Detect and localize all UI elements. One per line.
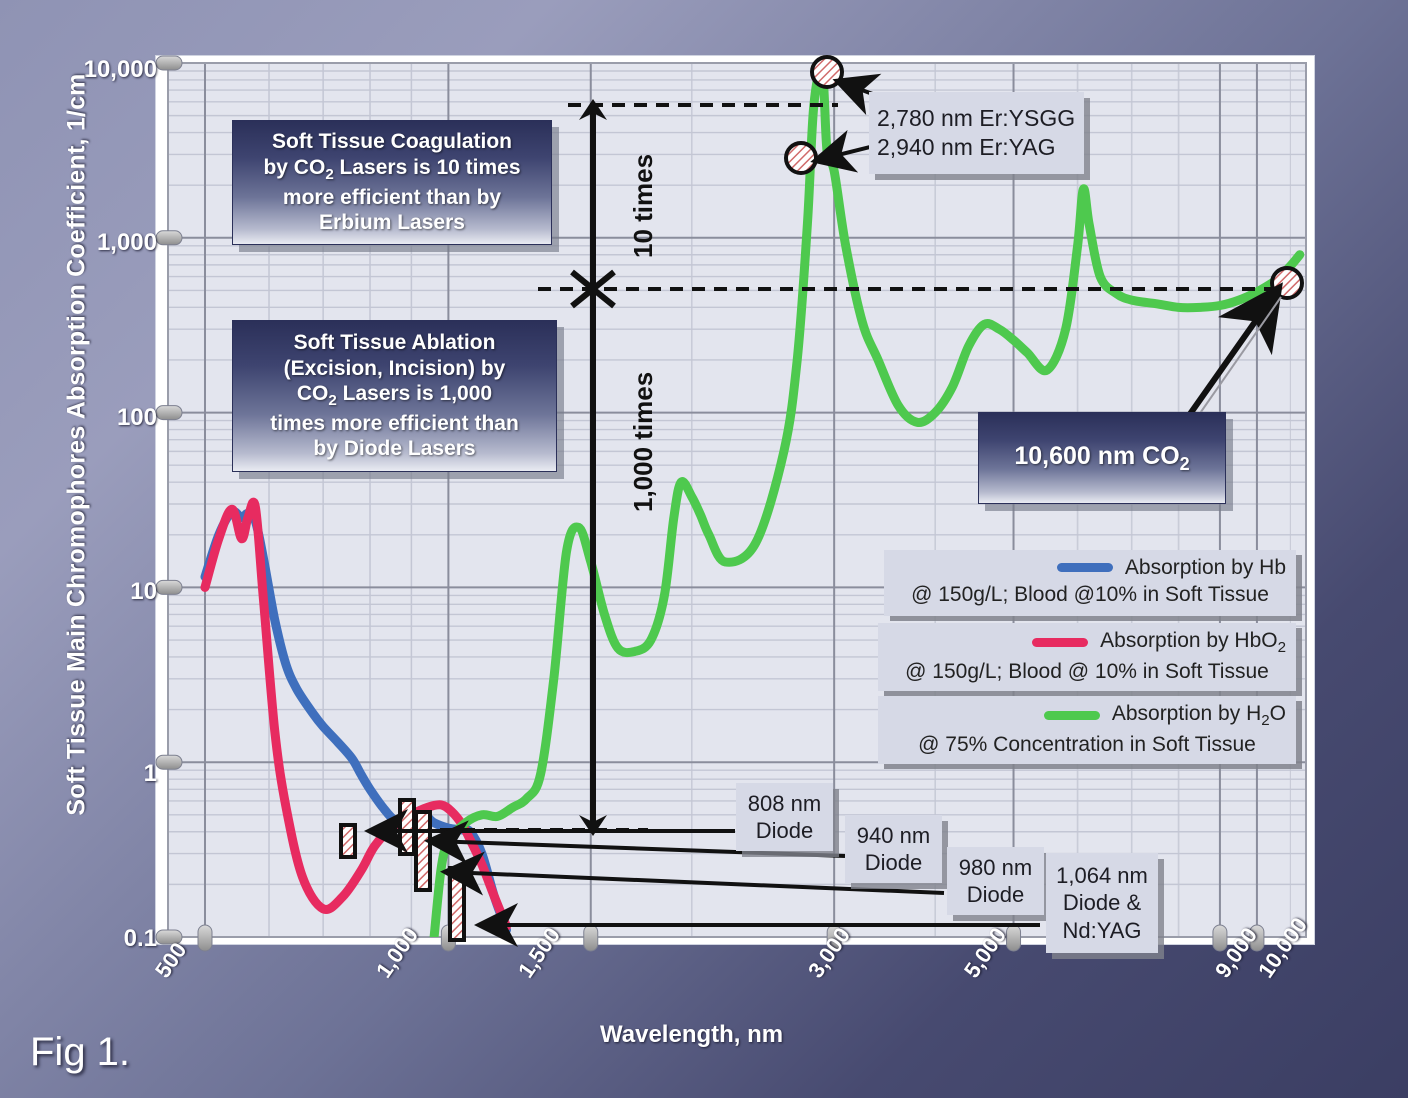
callout-980-line2: Diode: [967, 881, 1024, 909]
callout-coagulation-line1: Soft Tissue Coagulation: [272, 129, 512, 155]
callout-808-line2: Diode: [756, 817, 813, 845]
legend-hbo2-sublabel: @ 150g/L; Blood @ 10% in Soft Tissue: [888, 658, 1286, 685]
legend-swatch-hbo2-icon: [1032, 638, 1088, 647]
callout-ablation-line4: times more efficient than: [270, 411, 519, 437]
legend-swatch-hb-icon: [1057, 563, 1113, 572]
legend-hbo2-label: Absorption by HbO2: [1100, 627, 1286, 658]
callout-1064-line1: 1,064 nm: [1056, 862, 1148, 890]
legend-hb-label: Absorption by Hb: [1125, 554, 1286, 581]
legend-hb-row: Absorption by Hb: [894, 554, 1286, 581]
chart-svg: [0, 0, 1408, 1098]
legend-h2o-label: Absorption by H2O: [1112, 700, 1286, 731]
callout-ablation-line5: by Diode Lasers: [313, 436, 475, 462]
callout-808-diode: 808 nm Diode: [736, 783, 833, 851]
marker-2940-icon: [786, 143, 816, 173]
y-axis-title: Soft Tissue Main Chromophores Absorption…: [63, 45, 92, 845]
callout-coagulation: Soft Tissue Coagulation by CO2 Lasers is…: [232, 120, 552, 245]
callout-coagulation-line2: by CO2 Lasers is 10 times: [263, 155, 520, 185]
legend-h2o-row: Absorption by H2O: [888, 700, 1286, 731]
marker-1064-icon: [450, 868, 464, 940]
figure-caption: Fig 1.: [30, 1030, 130, 1075]
callout-980-line1: 980 nm: [959, 854, 1032, 882]
legend-h2o-sublabel: @ 75% Concentration in Soft Tissue: [888, 731, 1286, 758]
y-tick-pin: [156, 580, 182, 594]
callout-1064-line3: Nd:YAG: [1062, 917, 1141, 945]
marker-980-icon: [416, 812, 430, 890]
figure-root: 10,000 1,000 100 10 1 0.1 Soft Tissue Ma…: [0, 0, 1408, 1098]
callout-co2: 10,600 nm CO2: [978, 412, 1226, 504]
callout-erbium: 2,780 nm Er:YSGG 2,940 nm Er:YAG: [869, 92, 1084, 174]
x-tick-pin: [198, 925, 212, 951]
callout-1064-ndyag: 1,064 nm Diode & Nd:YAG: [1046, 853, 1158, 953]
y-tick-pin: [156, 755, 182, 769]
ratio-label-10-times: 10 times: [628, 154, 659, 258]
callout-ablation: Soft Tissue Ablation (Excision, Incision…: [232, 320, 557, 472]
legend-item-hbo2[interactable]: Absorption by HbO2 @ 150g/L; Blood @ 10%…: [878, 623, 1296, 691]
callout-coagulation-line3: more efficient than by: [283, 185, 501, 211]
leader-10600-shade: [1196, 297, 1281, 419]
x-axis-title: Wavelength, nm: [600, 1021, 783, 1049]
legend-item-h2o[interactable]: Absorption by H2O @ 75% Concentration in…: [878, 696, 1296, 764]
callout-808-line1: 808 nm: [748, 790, 821, 818]
callout-980-diode: 980 nm Diode: [947, 847, 1044, 915]
marker-808-icon: [341, 825, 355, 857]
legend-item-hb[interactable]: Absorption by Hb @ 150g/L; Blood @10% in…: [884, 550, 1296, 616]
callout-940-line1: 940 nm: [857, 822, 930, 850]
ratio-label-1000-times: 1,000 times: [628, 372, 659, 512]
series-line-hbo2: [205, 502, 507, 926]
callout-940-line2: Diode: [865, 849, 922, 877]
legend-hb-sublabel: @ 150g/L; Blood @10% in Soft Tissue: [894, 581, 1286, 608]
marker-940-icon: [400, 800, 414, 854]
marker-2780-icon: [812, 57, 842, 87]
callout-erbium-line2: 2,940 nm Er:YAG: [877, 133, 1056, 162]
y-tick-pin: [156, 231, 182, 245]
y-tick-pin: [156, 56, 182, 70]
callout-ablation-line1: Soft Tissue Ablation: [294, 330, 496, 356]
callout-ablation-line3: CO2 Lasers is 1,000: [297, 381, 492, 411]
legend-swatch-h2o-icon: [1044, 711, 1100, 720]
callout-ablation-line2: (Excision, Incision) by: [284, 356, 506, 382]
callout-co2-label: 10,600 nm CO2: [1014, 441, 1189, 476]
y-tick-pin: [156, 406, 182, 420]
legend-hbo2-row: Absorption by HbO2: [888, 627, 1286, 658]
callout-1064-line2: Diode &: [1063, 889, 1141, 917]
callout-erbium-line1: 2,780 nm Er:YSGG: [877, 104, 1075, 133]
callout-coagulation-line4: Erbium Lasers: [319, 210, 465, 236]
x-tick-pin: [584, 925, 598, 951]
callout-940-diode: 940 nm Diode: [845, 815, 942, 883]
y-tick-0.1: 0.1: [17, 925, 157, 953]
